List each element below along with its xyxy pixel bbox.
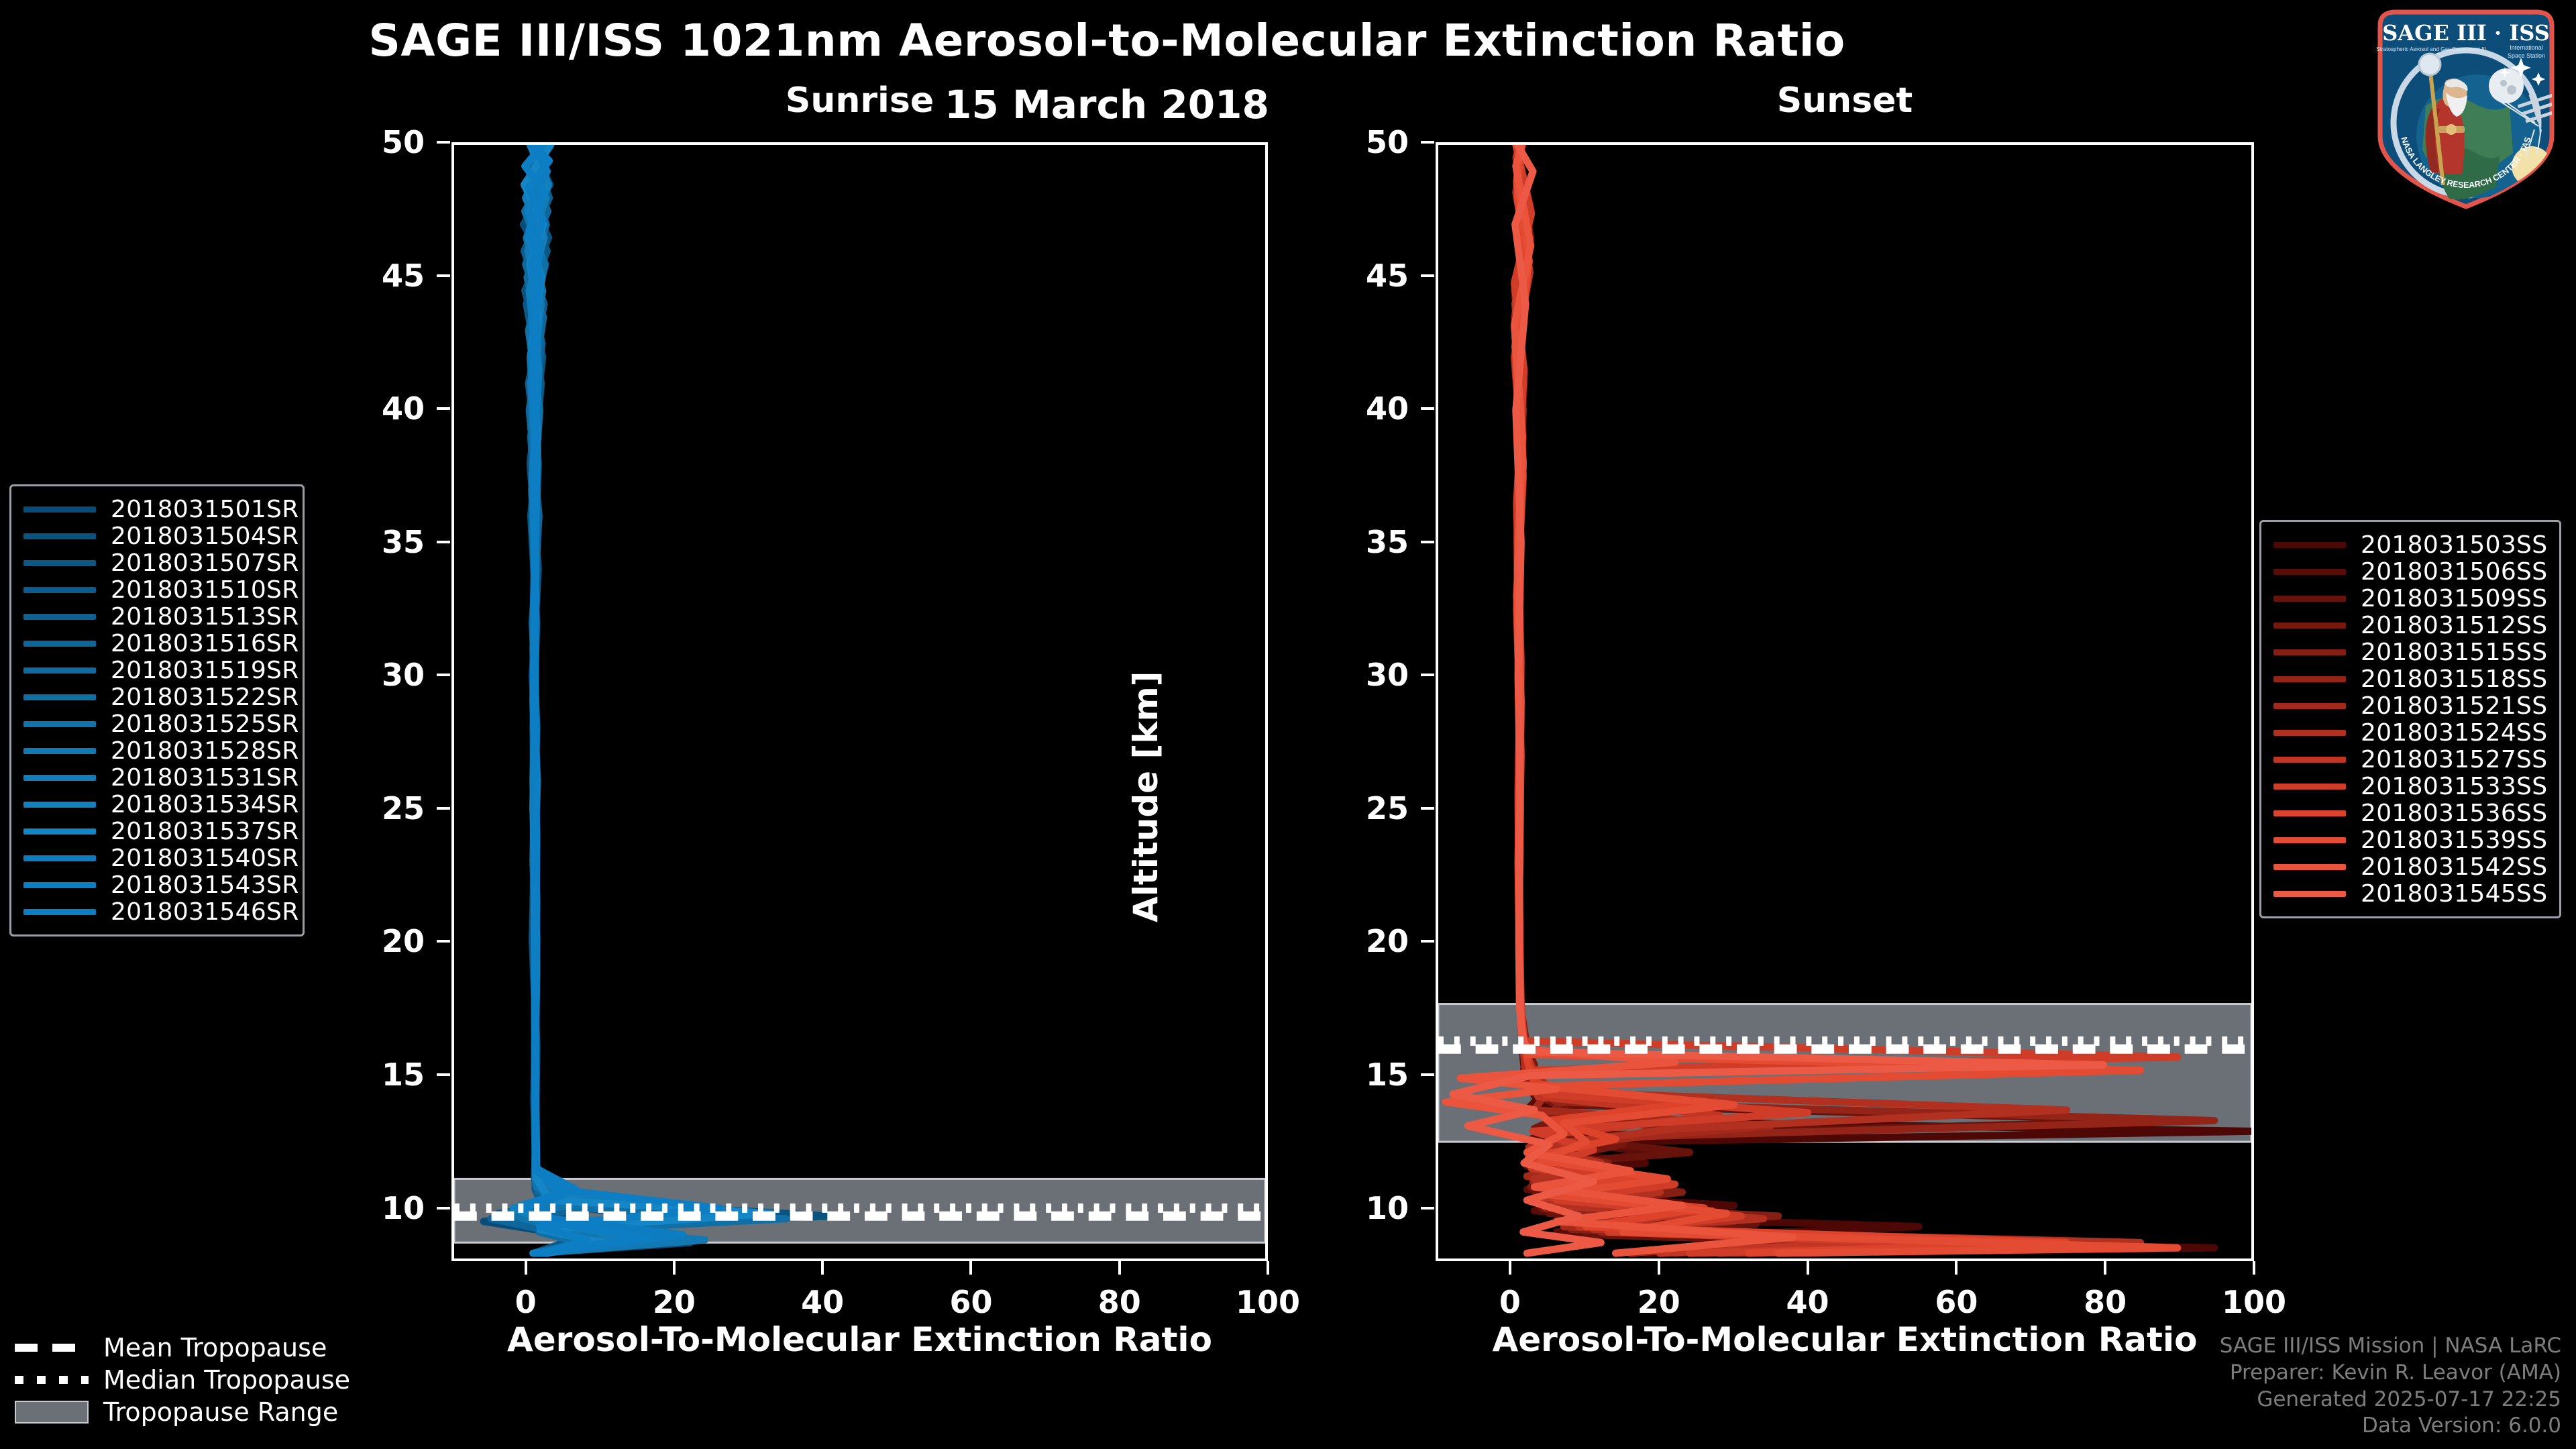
profile-line: [527, 145, 676, 1253]
legend-item-label: 2018031527SS: [2361, 746, 2547, 773]
x-tick-label: 60: [949, 1284, 992, 1320]
legend-color-swatch: [2273, 810, 2346, 816]
legend-item[interactable]: 2018031536SS: [2273, 800, 2547, 826]
sage-iii-iss-logo: SAGE III · ISS Stratospheric Aerosol and…: [2365, 5, 2567, 213]
legend-item[interactable]: 2018031501SR: [23, 496, 290, 523]
legend-item-label: 2018031536SS: [2361, 800, 2547, 827]
legend-color-swatch: [2273, 703, 2346, 709]
x-tick-mark: [969, 1261, 972, 1275]
legend-item[interactable]: 2018031546SR: [23, 898, 290, 925]
legend-item-label: 2018031539SS: [2361, 826, 2547, 854]
y-tick-mark: [1421, 1073, 1434, 1076]
x-tick-label: 0: [1499, 1284, 1521, 1320]
y-tick-label: 25: [1322, 790, 1409, 826]
legend-color-swatch: [2273, 569, 2346, 575]
y-tick-mark: [1421, 940, 1434, 943]
x-tick-label: 20: [1638, 1284, 1680, 1320]
x-tick-label: 100: [2222, 1284, 2286, 1320]
legend-item-label: 2018031512SS: [2361, 612, 2547, 639]
y-tick-mark: [437, 1073, 450, 1076]
legend-item[interactable]: 2018031506SS: [2273, 558, 2547, 585]
legend-color-swatch: [2273, 784, 2346, 790]
legend-item-label: 2018031513SR: [111, 603, 299, 631]
y-tick-mark: [437, 807, 450, 810]
credits-line-4: Data Version: 6.0.0: [2220, 1413, 2561, 1440]
panel-title-sunset: Sunset: [1436, 80, 2254, 121]
legend-item-label: 2018031546SR: [111, 898, 299, 926]
legend-color-swatch: [23, 855, 96, 861]
legend-color-swatch: [23, 882, 96, 888]
legend-color-swatch: [2273, 837, 2346, 843]
legend-color-swatch: [2273, 623, 2346, 629]
y-tick-mark: [1421, 807, 1434, 810]
y-tick-label: 40: [1322, 390, 1409, 427]
filled-band-icon: [15, 1405, 89, 1419]
legend-item-label: 2018031503SS: [2361, 531, 2547, 559]
credits-line-3: Generated 2025-07-17 22:25: [2220, 1387, 2561, 1413]
x-tick-label: 100: [1236, 1284, 1300, 1320]
legend-color-swatch: [23, 802, 96, 808]
legend-color-swatch: [23, 560, 96, 566]
sunset-legend[interactable]: 2018031503SS2018031506SS2018031509SS2018…: [2259, 520, 2561, 918]
profile-line: [527, 145, 712, 1253]
profile-line: [525, 145, 830, 1253]
legend-item[interactable]: 2018031509SS: [2273, 585, 2547, 612]
profile-line: [524, 145, 771, 1253]
y-tick-label: 20: [337, 923, 425, 959]
y-tick-label: 50: [1322, 124, 1409, 160]
page-title: SAGE III/ISS 1021nm Aerosol-to-Molecular…: [0, 15, 2214, 66]
legend-color-swatch: [23, 533, 96, 539]
legend-item[interactable]: 2018031537SR: [23, 818, 290, 845]
legend-item-label: 2018031537SR: [111, 818, 299, 845]
legend-item[interactable]: 2018031507SR: [23, 549, 290, 576]
legend-color-swatch: [23, 828, 96, 835]
profile-line: [498, 145, 661, 1253]
y-tick-label: 25: [337, 790, 425, 826]
y-tick-label: 10: [1322, 1190, 1409, 1226]
profile-line: [491, 145, 639, 1253]
y-tick-mark: [437, 141, 450, 144]
dotted-line-icon: [15, 1373, 89, 1387]
y-tick-label: 35: [1322, 524, 1409, 560]
legend-item[interactable]: 2018031512SS: [2273, 612, 2547, 639]
y-tick-mark: [437, 1207, 450, 1210]
logo-subtitle-right-2: Space Station: [2508, 52, 2545, 59]
legend-item[interactable]: 2018031528SR: [23, 737, 290, 764]
x-tick-mark: [1118, 1261, 1121, 1275]
x-tick-label: 80: [1098, 1284, 1141, 1320]
legend-item[interactable]: 2018031513SR: [23, 603, 290, 630]
y-tick-mark: [1421, 274, 1434, 277]
legend-item[interactable]: 2018031539SS: [2273, 826, 2547, 853]
legend-color-swatch: [23, 721, 96, 727]
legend-item[interactable]: 2018031522SR: [23, 684, 290, 710]
y-tick-label: 50: [337, 124, 425, 160]
panel-title-sunrise: Sunrise: [451, 80, 1268, 121]
legend-color-swatch: [2273, 730, 2346, 736]
legend-color-swatch: [23, 614, 96, 620]
x-tick-label: 40: [801, 1284, 844, 1320]
legend-item[interactable]: 2018031531SR: [23, 764, 290, 791]
legend-item[interactable]: 2018031534SR: [23, 791, 290, 818]
legend-item[interactable]: 2018031510SR: [23, 576, 290, 603]
y-tick-mark: [437, 940, 450, 943]
x-tick-mark: [673, 1261, 676, 1275]
median-tropopause-label: Median Tropopause: [103, 1365, 350, 1395]
x-tick-mark: [525, 1261, 527, 1275]
sunset-plot-area[interactable]: [1436, 142, 2254, 1261]
legend-item[interactable]: 2018031515SS: [2273, 639, 2547, 665]
y-tick-label: 30: [1322, 657, 1409, 693]
legend-item[interactable]: 2018031516SR: [23, 630, 290, 657]
y-tick-mark: [437, 541, 450, 543]
x-tick-mark: [1807, 1261, 1809, 1275]
y-tick-mark: [1421, 541, 1434, 543]
legend-color-swatch: [2273, 542, 2346, 548]
x-tick-mark: [821, 1261, 824, 1275]
legend-item-label: 2018031510SR: [111, 576, 299, 604]
legend-item-label: 2018031506SS: [2361, 558, 2547, 586]
legend-color-swatch: [23, 694, 96, 700]
legend-item-label: 2018031509SS: [2361, 585, 2547, 612]
x-tick-label: 60: [1935, 1284, 1978, 1320]
y-tick-mark: [1421, 674, 1434, 676]
logo-subtitle-left: Stratospheric Aerosol and Gas Experiment…: [2376, 46, 2486, 52]
legend-item-label: 2018031528SR: [111, 737, 299, 765]
legend-item-label: 2018031524SS: [2361, 719, 2547, 747]
legend-item-label: 2018031543SR: [111, 871, 299, 899]
y-tick-mark: [1421, 407, 1434, 410]
y-tick-label: 40: [337, 390, 425, 427]
y-tick-mark: [437, 407, 450, 410]
profile-line: [484, 145, 690, 1253]
x-tick-mark: [2104, 1261, 2106, 1275]
profile-line: [528, 145, 683, 1253]
y-tick-label: 10: [337, 1190, 425, 1226]
legend-item-label: 2018031516SR: [111, 630, 299, 657]
x-tick-label: 0: [515, 1284, 537, 1320]
tropopause-legend: Mean Tropopause Median Tropopause Tropop…: [15, 1332, 350, 1428]
x-tick-mark: [1267, 1261, 1269, 1275]
legend-color-swatch: [2273, 596, 2346, 602]
legend-color-swatch: [23, 587, 96, 593]
x-tick-label: 40: [1786, 1284, 1829, 1320]
legend-item-label: 2018031518SS: [2361, 665, 2547, 693]
legend-item-label: 2018031542SS: [2361, 853, 2547, 881]
legend-color-swatch: [2273, 676, 2346, 682]
legend-item[interactable]: 2018031545SS: [2273, 880, 2547, 907]
y-tick-label: 15: [1322, 1057, 1409, 1093]
legend-item[interactable]: 2018031533SS: [2273, 773, 2547, 800]
y-tick-label: 45: [337, 258, 425, 294]
legend-item[interactable]: 2018031521SS: [2273, 692, 2547, 719]
x-tick-label: 20: [653, 1284, 696, 1320]
y-tick-label: 20: [1322, 923, 1409, 959]
legend-item[interactable]: 2018031504SR: [23, 523, 290, 549]
legend-item-mean-tropopause[interactable]: Mean Tropopause: [15, 1332, 350, 1364]
dashed-line-icon: [15, 1340, 89, 1355]
profile-line: [525, 145, 786, 1253]
y-tick-mark: [437, 274, 450, 277]
legend-item-tropopause-range[interactable]: Tropopause Range: [15, 1396, 350, 1428]
legend-item-label: 2018031521SS: [2361, 692, 2547, 720]
legend-item-median-tropopause[interactable]: Median Tropopause: [15, 1364, 350, 1396]
y-tick-label: 30: [337, 657, 425, 693]
legend-item-label: 2018031507SR: [111, 549, 299, 577]
credits-line-2: Preparer: Kevin R. Leavor (AMA): [2220, 1360, 2561, 1387]
legend-color-swatch: [2273, 649, 2346, 655]
legend-item[interactable]: 2018031542SS: [2273, 853, 2547, 880]
profile-line: [526, 145, 735, 1253]
credits-block: SAGE III/ISS Mission | NASA LaRC Prepare…: [2220, 1333, 2561, 1440]
y-tick-mark: [437, 674, 450, 676]
legend-item[interactable]: 2018031518SS: [2273, 665, 2547, 692]
logo-title: SAGE III · ISS: [2382, 20, 2550, 46]
legend-color-swatch: [23, 506, 96, 513]
legend-color-swatch: [2273, 757, 2346, 763]
tropopause-range-label: Tropopause Range: [103, 1397, 338, 1427]
profile-line: [528, 145, 705, 1253]
legend-item-label: 2018031534SR: [111, 791, 299, 818]
legend-item[interactable]: 2018031540SR: [23, 845, 290, 871]
logo-subtitle-right-1: International: [2510, 44, 2543, 51]
x-tick-mark: [2253, 1261, 2255, 1275]
legend-color-swatch: [2273, 864, 2346, 870]
legend-item[interactable]: 2018031543SR: [23, 871, 290, 898]
profile-line: [506, 145, 609, 1253]
legend-item-label: 2018031504SR: [111, 523, 299, 550]
legend-color-swatch: [2273, 891, 2346, 897]
profile-line: [528, 145, 749, 1253]
legend-item-label: 2018031522SR: [111, 684, 299, 711]
y-tick-label: 15: [337, 1057, 425, 1093]
legend-item[interactable]: 2018031527SS: [2273, 746, 2547, 773]
legend-color-swatch: [23, 667, 96, 674]
y-tick-label: 45: [1322, 258, 1409, 294]
legend-item[interactable]: 2018031519SR: [23, 657, 290, 684]
legend-item-label: 2018031540SR: [111, 845, 299, 872]
x-tick-label: 80: [2084, 1284, 2127, 1320]
sunset-y-axis-label: Altitude [km]: [1126, 520, 1165, 922]
y-tick-label: 35: [337, 524, 425, 560]
profile-line: [525, 145, 720, 1253]
legend-item-label: 2018031515SS: [2361, 639, 2547, 666]
mean-tropopause-label: Mean Tropopause: [103, 1333, 327, 1362]
legend-item-label: 2018031531SR: [111, 764, 299, 792]
legend-item-label: 2018031501SR: [111, 496, 299, 523]
x-tick-mark: [1658, 1261, 1660, 1275]
sunrise-legend[interactable]: 2018031501SR2018031504SR2018031507SR2018…: [9, 484, 305, 936]
credits-line-1: SAGE III/ISS Mission | NASA LaRC: [2220, 1333, 2561, 1360]
legend-color-swatch: [23, 748, 96, 754]
x-tick-mark: [1509, 1261, 1511, 1275]
legend-item-label: 2018031545SS: [2361, 880, 2547, 908]
legend-item-label: 2018031525SR: [111, 710, 299, 738]
legend-color-swatch: [23, 641, 96, 647]
x-tick-mark: [1955, 1261, 1957, 1275]
y-tick-mark: [1421, 1207, 1434, 1210]
legend-color-swatch: [23, 909, 96, 915]
y-tick-mark: [1421, 141, 1434, 144]
sunrise-x-axis-label: Aerosol-To-Molecular Extinction Ratio: [451, 1320, 1268, 1359]
legend-color-swatch: [23, 775, 96, 781]
legend-item[interactable]: 2018031524SS: [2273, 719, 2547, 746]
sunset-x-axis-label: Aerosol-To-Molecular Extinction Ratio: [1436, 1320, 2254, 1359]
figure-root: SAGE III/ISS 1021nm Aerosol-to-Molecular…: [0, 0, 2576, 1449]
legend-item[interactable]: 2018031503SS: [2273, 531, 2547, 558]
legend-item-label: 2018031533SS: [2361, 773, 2547, 800]
legend-item[interactable]: 2018031525SR: [23, 710, 290, 737]
legend-item-label: 2018031519SR: [111, 657, 299, 684]
